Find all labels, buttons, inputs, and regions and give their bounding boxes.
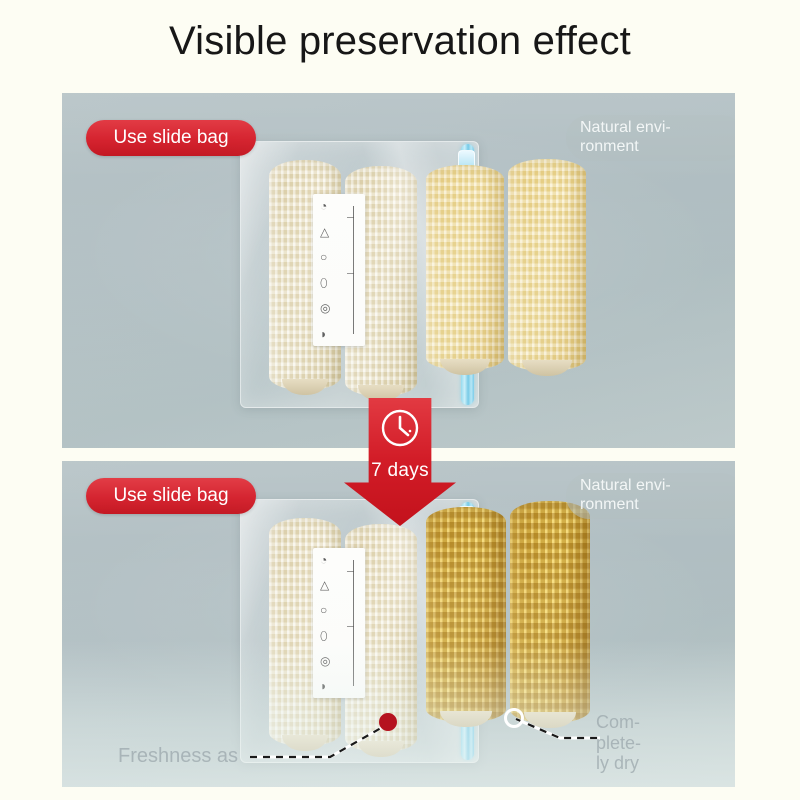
food-icon: ◎: [320, 655, 344, 667]
date-rule: [344, 200, 361, 340]
callout-freshness-label: Freshness as: [118, 745, 238, 768]
badge-natural-environment: Natural envi- ronment: [566, 473, 735, 519]
food-icon: ◗: [320, 328, 344, 340]
corn-tip: [282, 379, 328, 395]
label-sticker: ◔ △ ○ ⬯ ◎ ◗: [313, 194, 365, 346]
corn-tip: [522, 360, 572, 376]
corn-open-air-right: [510, 501, 590, 723]
sticker-icon-column: ◔ △ ○ ⬯ ◎ ◗: [320, 200, 344, 340]
corn-tip: [358, 741, 404, 757]
corn-open-air-right: [508, 159, 586, 371]
clock-icon: [378, 406, 422, 450]
sticker-icon-column: ◔ △ ○ ⬯ ◎ ◗: [320, 554, 344, 692]
badge-use-slide-bag: Use slide bag: [86, 478, 256, 514]
food-icon: ⬯: [320, 630, 344, 642]
food-icon: ◎: [320, 302, 344, 314]
corn-tip: [524, 712, 575, 728]
comparison-panel-before: ◔ △ ○ ⬯ ◎ ◗ Use slide bag Natural envi- …: [62, 93, 735, 448]
food-icon: △: [320, 226, 344, 238]
page-title: Visible preservation effect: [0, 18, 800, 64]
badge-use-slide-bag: Use slide bag: [86, 120, 256, 156]
food-icon: ◗: [320, 680, 344, 692]
duration-label: 7 days: [344, 460, 456, 482]
food-icon: ◔: [320, 554, 344, 566]
food-icon: ○: [320, 251, 344, 263]
food-icon: △: [320, 579, 344, 591]
date-rule: [344, 554, 361, 692]
corn-open-air-left: [426, 507, 506, 722]
elapsed-time-arrow: 7 days: [344, 398, 456, 526]
badge-natural-environment: Natural envi- ronment: [566, 115, 735, 161]
corn-open-air-left: [426, 165, 504, 370]
corn-tip: [282, 735, 328, 751]
food-icon: ◔: [320, 200, 344, 212]
food-icon: ○: [320, 604, 344, 616]
label-sticker: ◔ △ ○ ⬯ ◎ ◗: [313, 548, 365, 698]
callout-completely-dry-label: Com- plete- ly dry: [596, 712, 641, 774]
food-icon: ⬯: [320, 277, 344, 289]
